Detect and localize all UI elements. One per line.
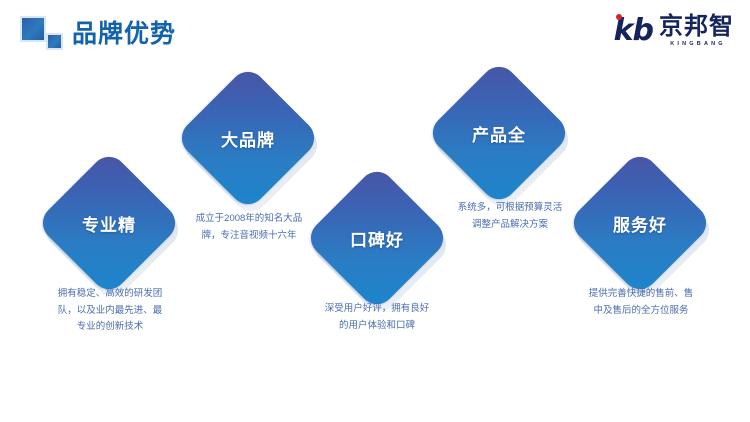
advantage-caption-3: 深受用户好评，拥有良好 的用户体验和口碑 — [287, 301, 467, 334]
diamond-shape-2[interactable]: 大品牌 — [196, 86, 300, 190]
diamond-label-1: 专业精 — [57, 171, 161, 275]
diamond-label-4: 产品全 — [447, 81, 551, 185]
footer-slogan: 智创全球一流声光视讯品牌 — [288, 403, 462, 418]
advantages-board: 专业精 拥有稳定、高效的研发团 队，以及业内最先进、最 专业的创新技术 大品牌 … — [0, 0, 750, 422]
diamond-shape-5[interactable]: 服务好 — [588, 171, 692, 275]
diamond-label-5: 服务好 — [588, 171, 692, 275]
diamond-label-2: 大品牌 — [196, 86, 300, 190]
advantage-caption-1: 拥有稳定、高效的研发团 队，以及业内最先进、最 专业的创新技术 — [20, 286, 200, 336]
diamond-shape-1[interactable]: 专业精 — [57, 171, 161, 275]
diamond-label-3: 口碑好 — [325, 186, 429, 290]
page-footer: 智创全球一流声光视讯品牌 — [0, 398, 750, 422]
diamond-shape-3[interactable]: 口碑好 — [325, 186, 429, 290]
advantage-caption-5: 提供完善快捷的售前、售 中及售后的全方位服务 — [551, 286, 731, 319]
diamond-shape-4[interactable]: 产品全 — [447, 81, 551, 185]
advantage-caption-4: 系统多，可根据预算灵活 调整产品解决方案 — [420, 200, 600, 233]
